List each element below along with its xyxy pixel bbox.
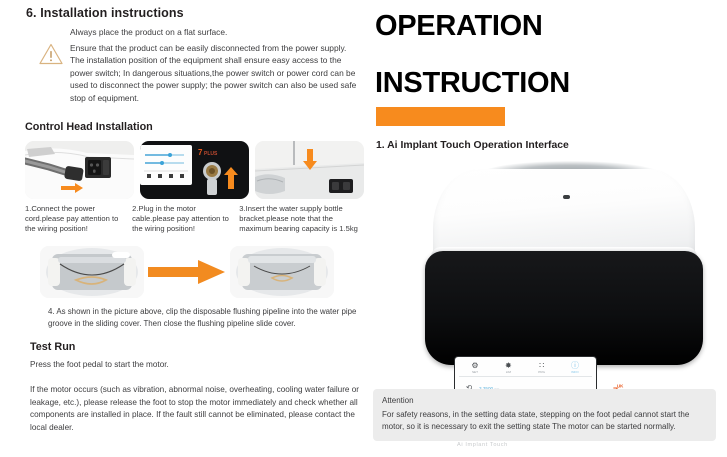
svg-text:7: 7 (198, 148, 203, 157)
operation-heading-line2: INSTRUCTION (375, 69, 715, 98)
limit-icon-label: LIM (495, 370, 521, 374)
info-icon[interactable]: ⓘ INFO (562, 361, 588, 374)
brand-superscript: UK (617, 384, 623, 389)
power-cord-socket-photo (25, 141, 134, 199)
info-icon-label: INFO (562, 370, 588, 374)
attention-title: Attention (382, 396, 707, 405)
settings-icon[interactable]: ⚙ SET (462, 361, 488, 374)
screen-top-icon-row: ⚙ SET ✸ LIM ∷ PRG ⓘ INFO (459, 360, 592, 377)
program-icon[interactable]: ∷ PRG (529, 361, 555, 374)
step-photo-row: 7 PLUS (25, 141, 358, 199)
test-run-paragraph-2: If the motor occurs (such as vibration, … (30, 384, 368, 434)
attention-body: For safety reasons, in the setting data … (382, 409, 707, 433)
attention-box: Attention For safety reasons, in the set… (373, 389, 716, 441)
step-caption-row: 1.Connect the power cord.please pay atte… (25, 204, 358, 235)
step-2-caption: 2.Plug in the motor cable.please pay att… (132, 204, 233, 235)
svg-text:PLUS: PLUS (204, 151, 218, 157)
test-run-title: Test Run (30, 341, 358, 353)
settings-icon-label: SET (462, 370, 488, 374)
step-1-caption: 1.Connect the power cord.please pay atte… (25, 204, 126, 235)
right-arrow-icon (148, 259, 226, 285)
device-indicator-dot (563, 195, 570, 199)
operation-heading-line1: OPERATION (375, 12, 715, 41)
accent-bar (376, 107, 505, 126)
subsection-title: 1. Ai Implant Touch Operation Interface (376, 140, 715, 151)
program-icon-label: PRG (529, 370, 555, 374)
warning-line-1: Always place the product on a flat surfa… (70, 26, 358, 39)
device-illustration: ⚙ SET ✸ LIM ∷ PRG ⓘ INFO (425, 159, 715, 367)
warning-line-2: Ensure that the product can be easily di… (70, 42, 358, 105)
info-icon-glyph: ⓘ (562, 361, 588, 370)
device-front-panel: ⚙ SET ✸ LIM ∷ PRG ⓘ INFO (425, 251, 703, 365)
left-column: 6. Installation instructions Always plac… (0, 0, 368, 457)
limit-icon-glyph: ✸ (495, 361, 521, 370)
step-4-caption: 4. As shown in the picture above, clip t… (48, 306, 368, 329)
installation-warning-block: Always place the product on a flat surfa… (22, 26, 358, 105)
motor-cable-port-photo: 7 PLUS (140, 141, 249, 199)
settings-icon-glyph: ⚙ (462, 361, 488, 370)
program-icon-glyph: ∷ (529, 361, 555, 370)
water-bottle-bracket-photo (255, 141, 364, 199)
flushing-pipeline-open-photo (40, 246, 144, 298)
step-3-caption: 3.Insert the water supply bottle bracket… (239, 204, 358, 235)
control-head-installation-title: Control Head Installation (25, 121, 358, 133)
flushing-pipeline-closed-photo (230, 246, 334, 298)
limit-icon[interactable]: ✸ LIM (495, 361, 521, 374)
warning-triangle-icon (38, 42, 64, 66)
device-name-label: Ai Implant Touch (457, 442, 508, 448)
page-title: 6. Installation instructions (26, 6, 358, 20)
step-4-photo-row (40, 246, 358, 298)
page-root: 6. Installation instructions Always plac… (0, 0, 727, 457)
test-run-paragraph-1: Press the foot pedal to start the motor. (30, 359, 368, 371)
